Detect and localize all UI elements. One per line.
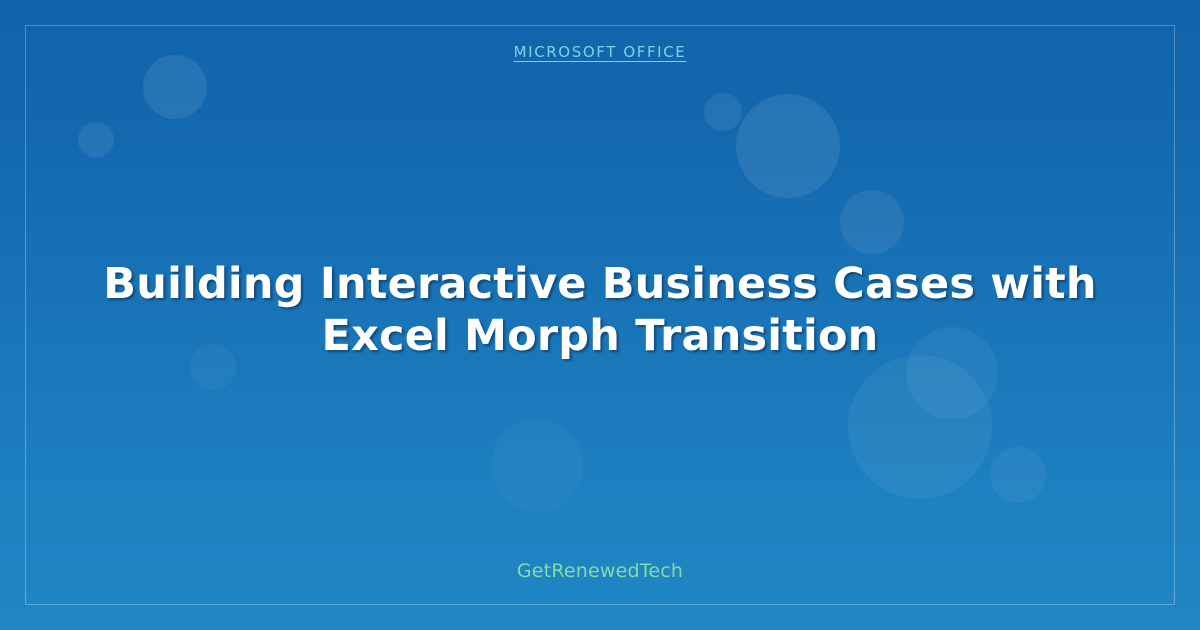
title-container: Building Interactive Business Cases with… — [85, 61, 1115, 560]
brand-name: GetRenewedTech — [517, 560, 683, 583]
card-content: MICROSOFT OFFICE Building Interactive Bu… — [25, 25, 1175, 605]
page-title: Building Interactive Business Cases with… — [95, 259, 1105, 362]
social-share-card: MICROSOFT OFFICE Building Interactive Bu… — [0, 0, 1200, 630]
category-label[interactable]: MICROSOFT OFFICE — [514, 43, 687, 61]
